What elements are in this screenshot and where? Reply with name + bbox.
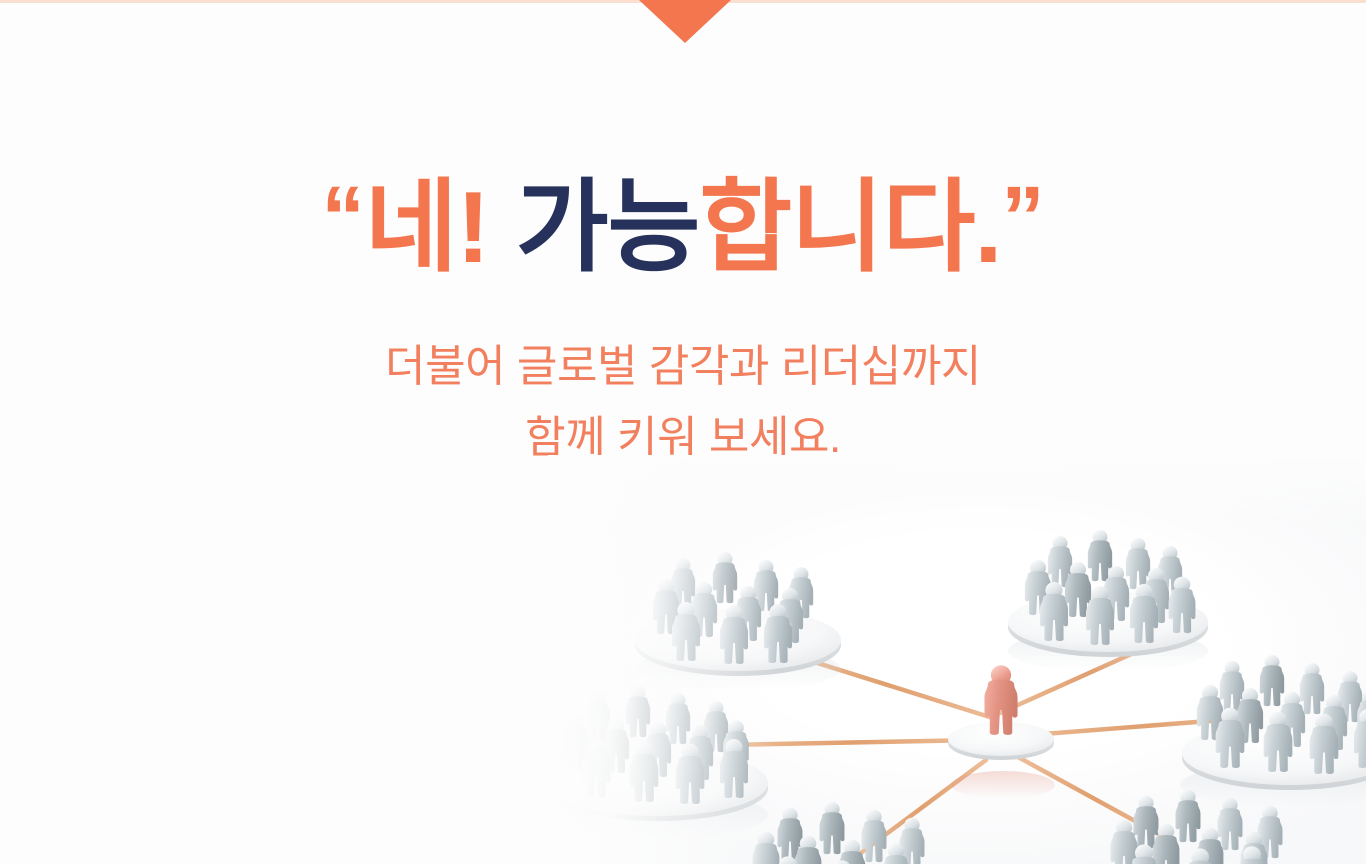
close-quote-mark: ” (1001, 169, 1044, 266)
subtitle-line-1: 더불어 글로벌 감각과 리더십까지 (0, 331, 1366, 402)
headline-segment-accent-1: 네! (365, 171, 489, 283)
network-diagram-graphic (548, 455, 1366, 864)
promo-callout-section: “네! 가능합니다.” 더불어 글로벌 감각과 리더십까지 함께 키워 보세요. (0, 0, 1366, 864)
hub-left (548, 686, 768, 821)
open-quote-mark: “ (321, 169, 364, 266)
headline: “네! 가능합니다.” (0, 171, 1366, 283)
headline-segment-navy: 가능 (516, 171, 699, 283)
hub-bottom-left (736, 802, 960, 864)
subtitle: 더불어 글로벌 감각과 리더십까지 함께 키워 보세요. (0, 331, 1366, 474)
hub-top-left (635, 552, 841, 676)
headline-segment-accent-2: 합니다. (699, 171, 1001, 283)
hub-top-right (1008, 530, 1208, 657)
pointer-triangle-icon (639, 0, 731, 43)
headline-space-1 (489, 171, 516, 283)
network-of-people-illustration (548, 455, 1366, 864)
